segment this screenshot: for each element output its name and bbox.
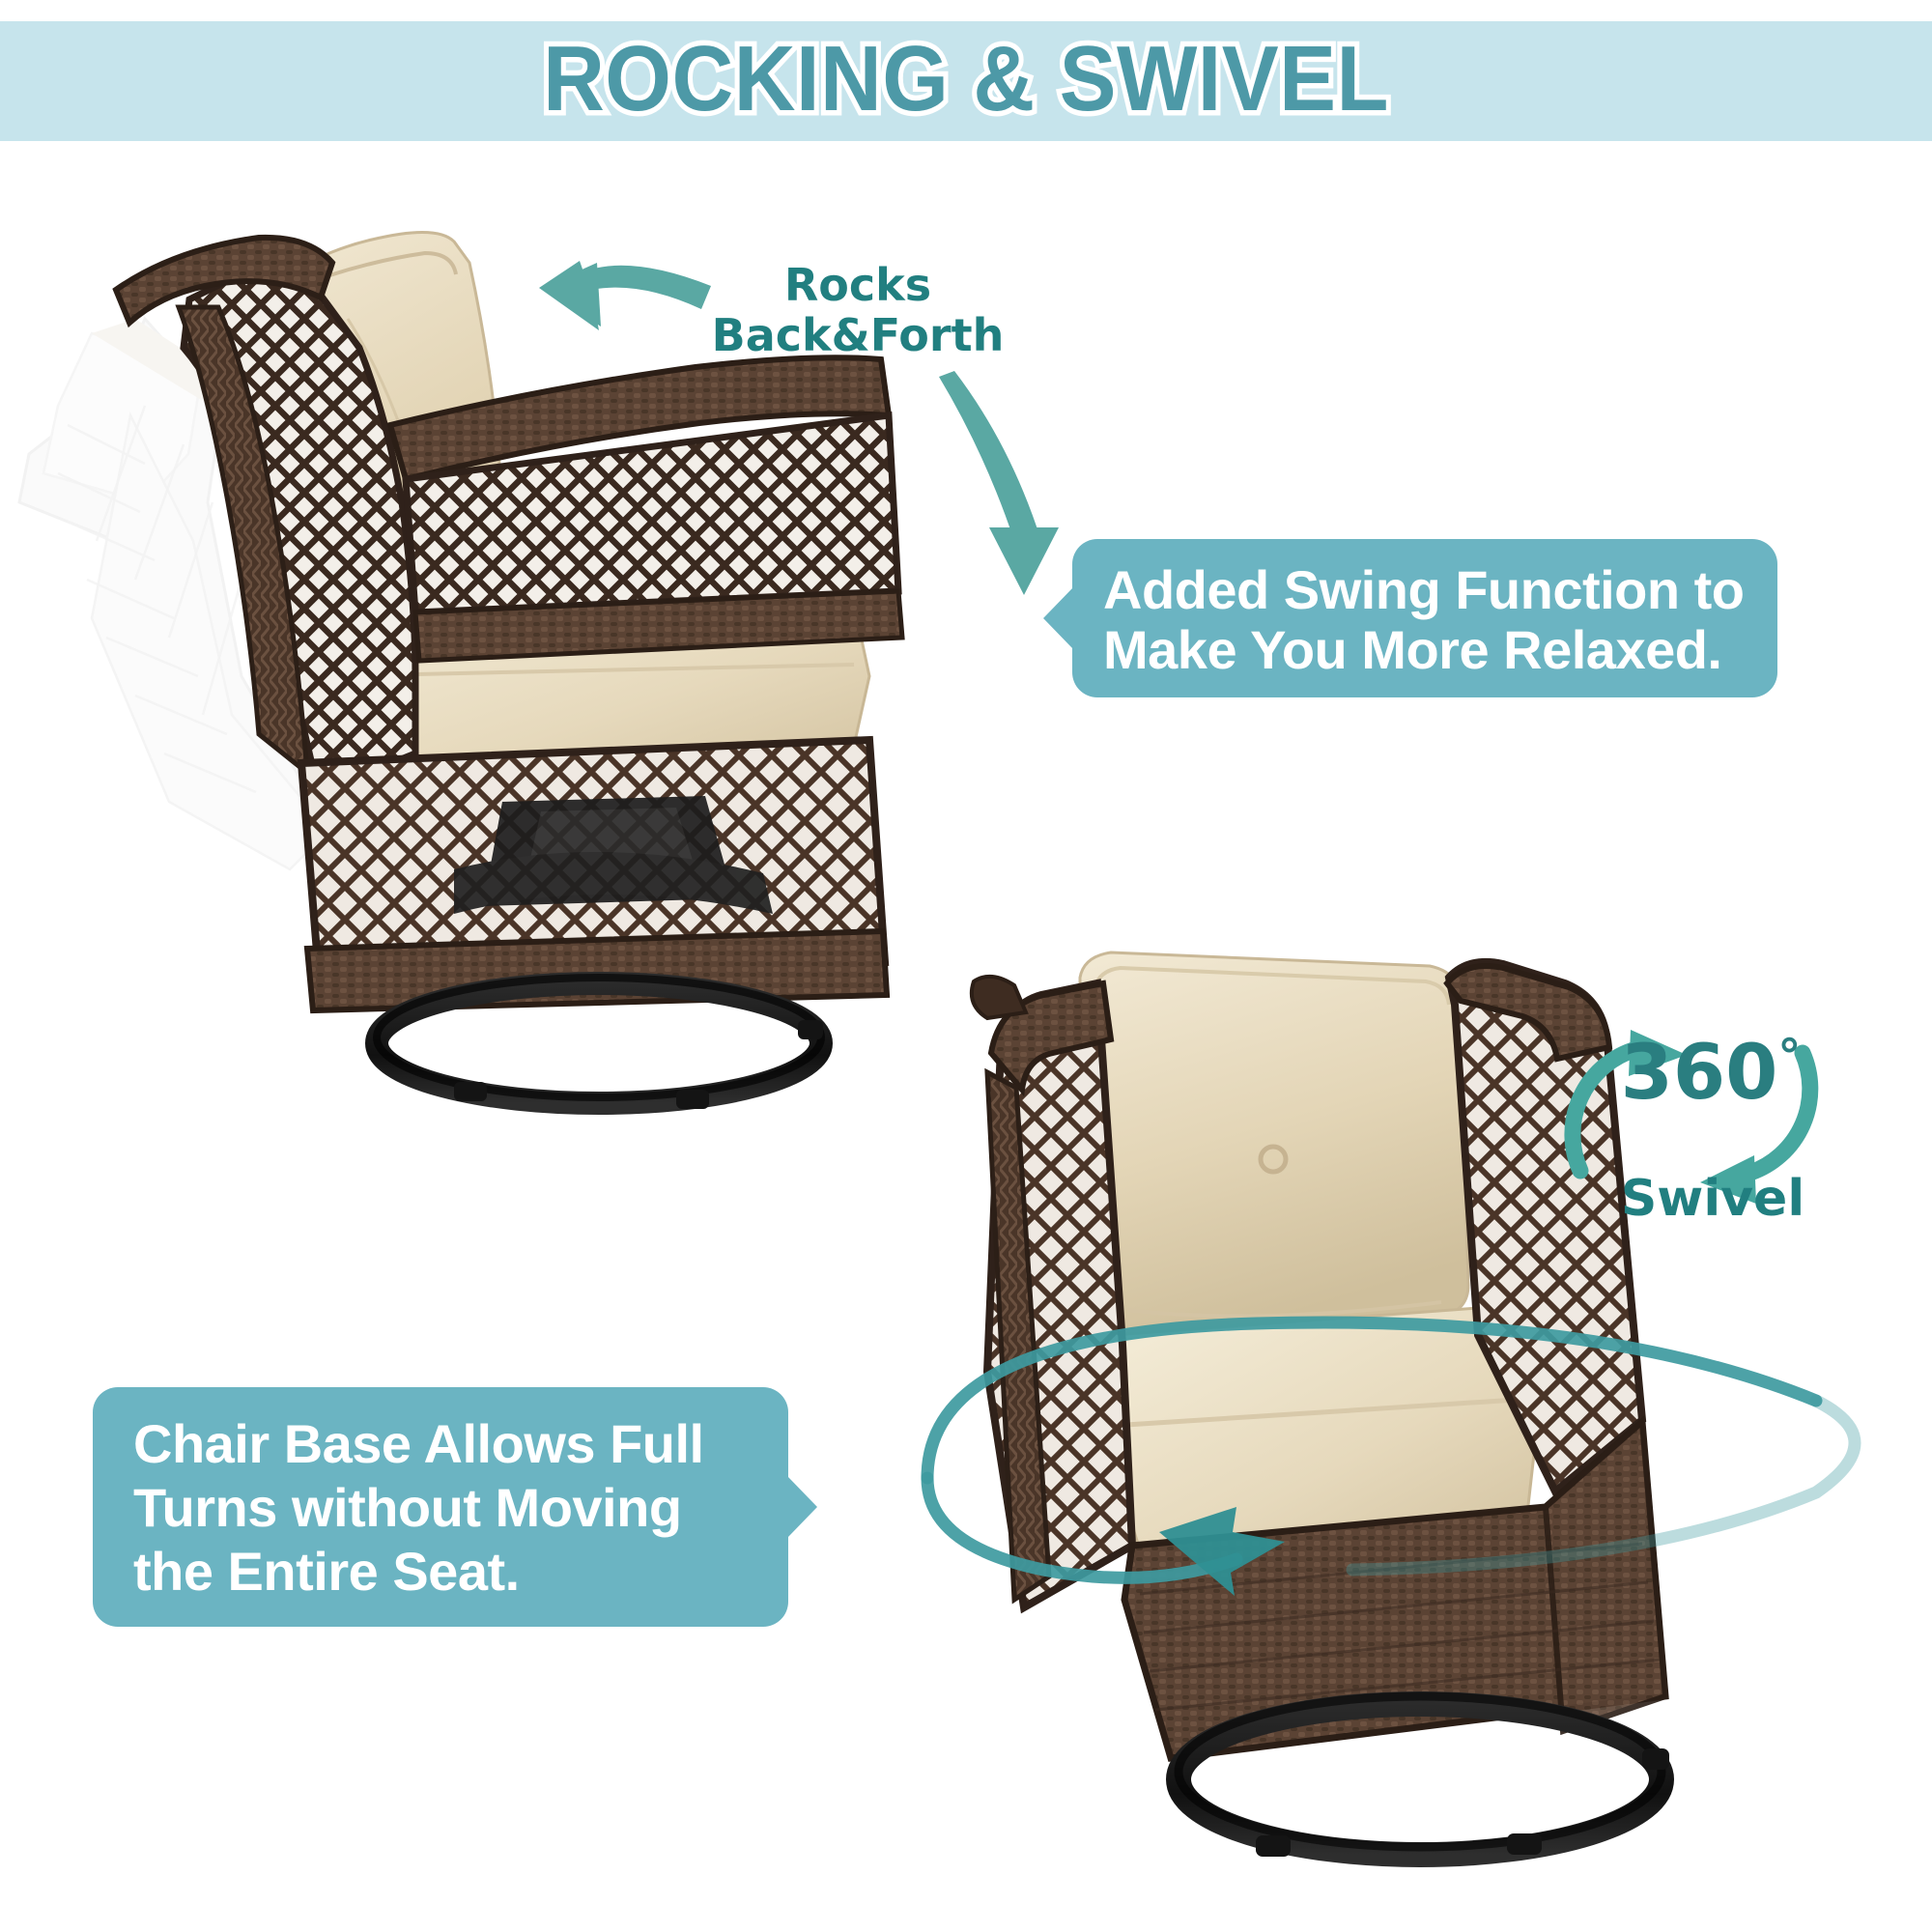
swivel-label: Swivel — [1553, 1171, 1872, 1227]
chair-side-view — [116, 232, 902, 1109]
rocks-label-line2: Back&Forth — [712, 309, 1005, 361]
curved-down-arrow-icon — [939, 371, 1059, 595]
swivel-base-ring-side — [377, 978, 823, 1109]
ghost-chair-silhouette — [19, 319, 328, 869]
callout-tail-left — [1043, 587, 1073, 649]
infographic-canvas: ROCKING & SWIVEL Rocks Back&Forth 360° S… — [0, 0, 1932, 1932]
page-title: ROCKING & SWIVEL — [77, 29, 1855, 129]
callout-base-line2: Turns without Moving — [133, 1476, 763, 1540]
callout-base-line3: the Entire Seat. — [133, 1540, 763, 1604]
callout-base-line1: Chair Base Allows Full — [133, 1412, 763, 1476]
callout-swing-function: Added Swing Function to Make You More Re… — [1072, 539, 1777, 697]
chair-front-view — [972, 952, 1669, 1857]
callout-swing-line1: Added Swing Function to — [1103, 560, 1750, 620]
callout-tail-right — [787, 1476, 817, 1538]
callout-swing-line2: Make You More Relaxed. — [1103, 620, 1750, 680]
swivel-degrees-value: 360 — [1621, 1030, 1778, 1117]
rocks-label: Rocks Back&Forth — [694, 261, 1022, 360]
cushion-tuft-button — [1261, 1147, 1286, 1172]
rocks-label-line1: Rocks — [784, 259, 931, 311]
swivel-base-ring-front — [1179, 1696, 1669, 1857]
swivel-degrees-label: 360° — [1590, 1030, 1832, 1117]
degree-symbol: ° — [1777, 1030, 1801, 1084]
callout-chair-base: Chair Base Allows Full Turns without Mov… — [93, 1387, 788, 1627]
curved-left-arrow-icon — [539, 261, 711, 330]
